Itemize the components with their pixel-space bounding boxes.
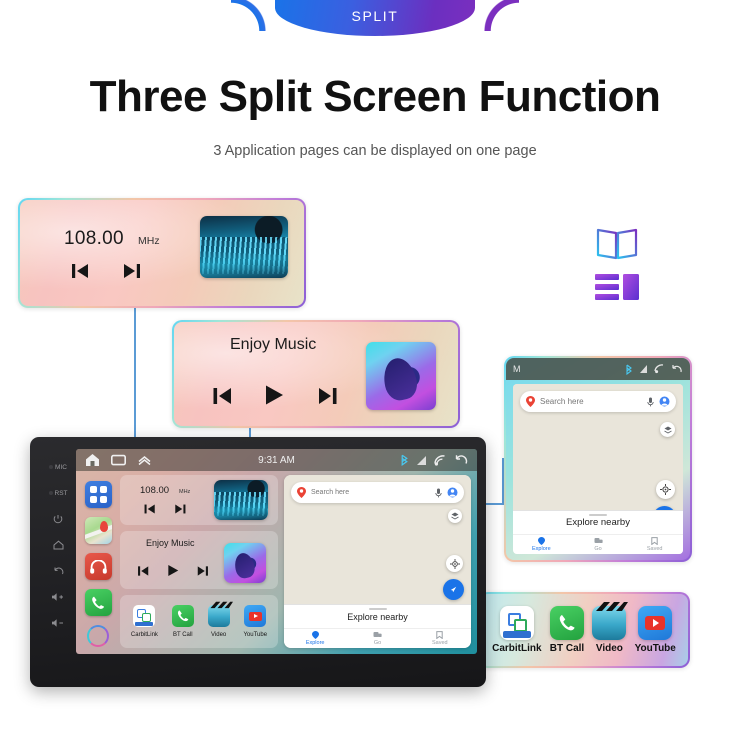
callout-card-apps: CarbitLink BT Call Video YouTube: [478, 592, 690, 668]
phone-icon[interactable]: [85, 589, 112, 616]
app-label: Video: [211, 632, 226, 638]
bezel-home-icon[interactable]: [53, 532, 64, 558]
app-label: YouTube: [243, 632, 267, 638]
app-item-video[interactable]: Video: [208, 605, 230, 638]
app-item-youtube[interactable]: YouTube: [243, 605, 267, 638]
bookmark-icon: [436, 631, 443, 639]
map-bottom-tabs: Explore Go Saved: [284, 628, 471, 648]
device-apps-panel[interactable]: CarbitLink BT Call Video: [120, 595, 278, 648]
music-next-button[interactable]: [316, 386, 340, 406]
gradient-ring-icon[interactable]: [87, 625, 109, 647]
commute-icon: [594, 537, 603, 545]
app-label: CarbitLink: [492, 643, 541, 654]
map-tab-saved[interactable]: Saved: [409, 629, 471, 648]
radio-next-button[interactable]: [122, 262, 144, 280]
app-item-bt-call[interactable]: BT Call: [172, 605, 194, 638]
phone-icon: [172, 605, 194, 627]
location-pin-icon: [312, 631, 319, 639]
device-app-rail: [80, 477, 116, 648]
map-tab-saved[interactable]: Saved: [626, 535, 683, 554]
map-canvas[interactable]: Search here: [513, 384, 683, 510]
account-icon[interactable]: [447, 487, 458, 498]
radio-artwork: [200, 216, 288, 278]
radio-prev-button[interactable]: [68, 262, 90, 280]
callout-card-music: Enjoy Music: [172, 320, 460, 428]
map-tab-explore[interactable]: Explore: [284, 629, 346, 648]
callout-card-map: M Search here: [504, 356, 692, 562]
music-prev-button[interactable]: [210, 386, 234, 406]
bluetooth-icon: [625, 364, 633, 375]
page-title: Three Split Screen Function: [0, 72, 750, 122]
youtube-icon: [638, 606, 672, 640]
map-search-input[interactable]: Search here: [520, 391, 676, 412]
bezel-reset[interactable]: RST: [49, 480, 68, 506]
map-layers-button[interactable]: [660, 422, 675, 437]
map-compass-button[interactable]: [446, 555, 463, 572]
music-headphones-icon[interactable]: [85, 553, 112, 580]
map-tab-label: Explore: [532, 546, 551, 552]
map-tab-label: Saved: [432, 640, 448, 646]
radio-artwork: [214, 480, 268, 520]
carbitlink-icon: [133, 605, 155, 627]
mic-icon[interactable]: [435, 488, 442, 498]
app-label: BT Call: [173, 632, 193, 638]
app-label: BT Call: [550, 643, 584, 654]
app-item-carbitlink[interactable]: CarbitLink: [492, 606, 541, 654]
page-subtitle: 3 Application pages can be displayed on …: [0, 143, 750, 159]
map-search-input[interactable]: Search here: [291, 482, 464, 503]
map-tab-label: Saved: [647, 546, 663, 552]
back-icon[interactable]: [454, 454, 468, 466]
phone-icon: [550, 606, 584, 640]
map-tab-label: Go: [594, 546, 601, 552]
app-item-bt-call[interactable]: BT Call: [550, 606, 584, 654]
wifi-icon: [654, 364, 665, 374]
map-tab-label: Explore: [306, 640, 325, 646]
dual-pane-book-icon: [594, 228, 640, 260]
radio-frequency-unit: MHz: [179, 489, 190, 495]
youtube-icon: [244, 605, 266, 627]
mic-icon[interactable]: [647, 397, 654, 407]
map-navigate-button[interactable]: [443, 579, 464, 600]
app-item-carbitlink[interactable]: CarbitLink: [131, 605, 158, 638]
signal-icon: [416, 455, 427, 466]
callout-card-radio: 108.00 MHz: [18, 198, 306, 308]
app-item-video[interactable]: Video: [592, 606, 626, 654]
device-statusbar: 9:31 AM: [76, 449, 477, 471]
map-layers-button[interactable]: [448, 509, 462, 523]
music-title: Enjoy Music: [146, 538, 195, 548]
bezel-power-icon[interactable]: [53, 506, 63, 532]
music-title: Enjoy Music: [230, 336, 316, 354]
bezel-mic[interactable]: MIC: [49, 454, 67, 480]
map-search-placeholder: Search here: [540, 397, 584, 406]
maps-icon[interactable]: [85, 517, 112, 544]
map-tab-go[interactable]: Go: [570, 535, 627, 554]
maps-pin-icon: [526, 396, 535, 407]
radio-next-button[interactable]: [174, 503, 188, 515]
apps-grid-icon[interactable]: [85, 481, 112, 508]
app-label: CarbitLink: [131, 632, 158, 638]
music-play-button[interactable]: [262, 384, 286, 406]
bluetooth-icon: [400, 454, 409, 466]
map-tab-label: Go: [374, 640, 381, 646]
device-split-layout: 108.00 MHz Enjoy Music: [120, 475, 471, 648]
video-clapper-icon: [592, 606, 626, 640]
radio-frequency-unit: MHz: [138, 235, 160, 247]
music-artwork: [224, 543, 266, 583]
device-map-panel[interactable]: Search here Explore nearby: [284, 475, 471, 648]
radio-prev-button[interactable]: [142, 503, 156, 515]
maps-pin-icon: [297, 487, 306, 498]
music-artwork: [366, 342, 436, 410]
map-search-placeholder: Search here: [311, 489, 349, 496]
map-canvas[interactable]: Search here: [284, 475, 471, 604]
radio-frequency: 108.00: [140, 485, 169, 496]
carbitlink-icon: [500, 606, 534, 640]
app-item-youtube[interactable]: YouTube: [635, 606, 676, 654]
device-screen[interactable]: 9:31 AM 108.00 MHz: [76, 449, 477, 654]
device-bezel-buttons: MIC RST: [37, 444, 79, 657]
radio-frequency: 108.00: [64, 228, 124, 250]
car-head-unit-device: MIC RST 9:31 AM: [30, 437, 486, 687]
music-next-button[interactable]: [196, 565, 210, 577]
bookmark-icon: [651, 537, 658, 545]
map-explore-nearby[interactable]: Explore nearby: [284, 604, 471, 628]
map-tab-explore[interactable]: Explore: [513, 535, 570, 554]
device-music-panel[interactable]: Enjoy Music: [120, 531, 278, 589]
map-callout-statusbar: M: [506, 358, 690, 380]
map-explore-nearby[interactable]: Explore nearby: [513, 510, 683, 534]
music-play-button[interactable]: [166, 564, 180, 577]
app-label: YouTube: [635, 643, 676, 654]
commute-icon: [373, 631, 382, 639]
bezel-volume-up-icon[interactable]: [51, 584, 65, 610]
bezel-back-icon[interactable]: [53, 558, 64, 584]
back-icon[interactable]: [671, 364, 683, 374]
split-banner: SPLIT: [275, 0, 475, 36]
bezel-volume-down-icon[interactable]: [51, 610, 65, 636]
map-bottom-tabs: Explore Go Saved: [513, 534, 683, 554]
account-icon[interactable]: [659, 396, 670, 407]
statusbar-left-label: M: [513, 364, 521, 374]
signal-icon: [639, 364, 648, 374]
device-radio-panel[interactable]: 108.00 MHz: [120, 475, 278, 525]
music-prev-button[interactable]: [136, 565, 150, 577]
split-banner-label: SPLIT: [352, 8, 399, 28]
wifi-icon: [434, 455, 447, 466]
split-layout-icon: [594, 272, 640, 302]
map-tab-go[interactable]: Go: [346, 629, 408, 648]
video-clapper-icon: [208, 605, 230, 627]
map-compass-button[interactable]: [656, 480, 675, 499]
app-label: Video: [596, 643, 623, 654]
location-pin-icon: [538, 537, 545, 545]
